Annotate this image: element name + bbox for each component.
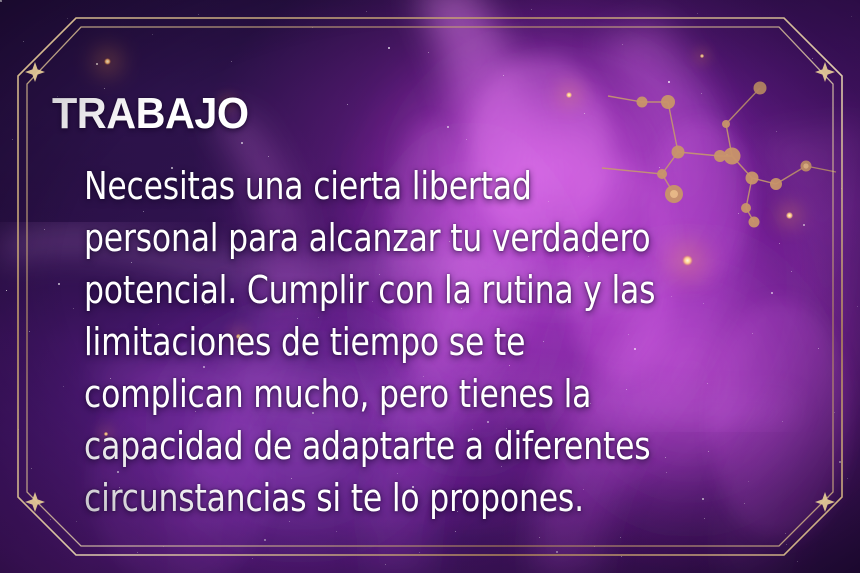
page-title: TRABAJO bbox=[52, 92, 249, 136]
body-line: capacidad de adaptarte a diferentes bbox=[84, 424, 651, 468]
body-line: potencial. Cumplir con la rutina y las bbox=[84, 268, 655, 312]
body-line: complican mucho, pero tienes la bbox=[84, 372, 591, 416]
horoscope-body-text: Necesitas una cierta libertadpersonal pa… bbox=[84, 160, 739, 524]
body-line: personal para alcanzar tu verdadero bbox=[84, 216, 651, 260]
body-line: circunstancias si te lo propones. bbox=[84, 476, 584, 520]
body-line: limitaciones de tiempo se te bbox=[84, 320, 525, 364]
horoscope-card: TRABAJO Necesitas una cierta libertadper… bbox=[0, 0, 860, 573]
card-content: TRABAJO Necesitas una cierta libertadper… bbox=[0, 0, 860, 573]
body-line: Necesitas una cierta libertad bbox=[84, 164, 532, 208]
